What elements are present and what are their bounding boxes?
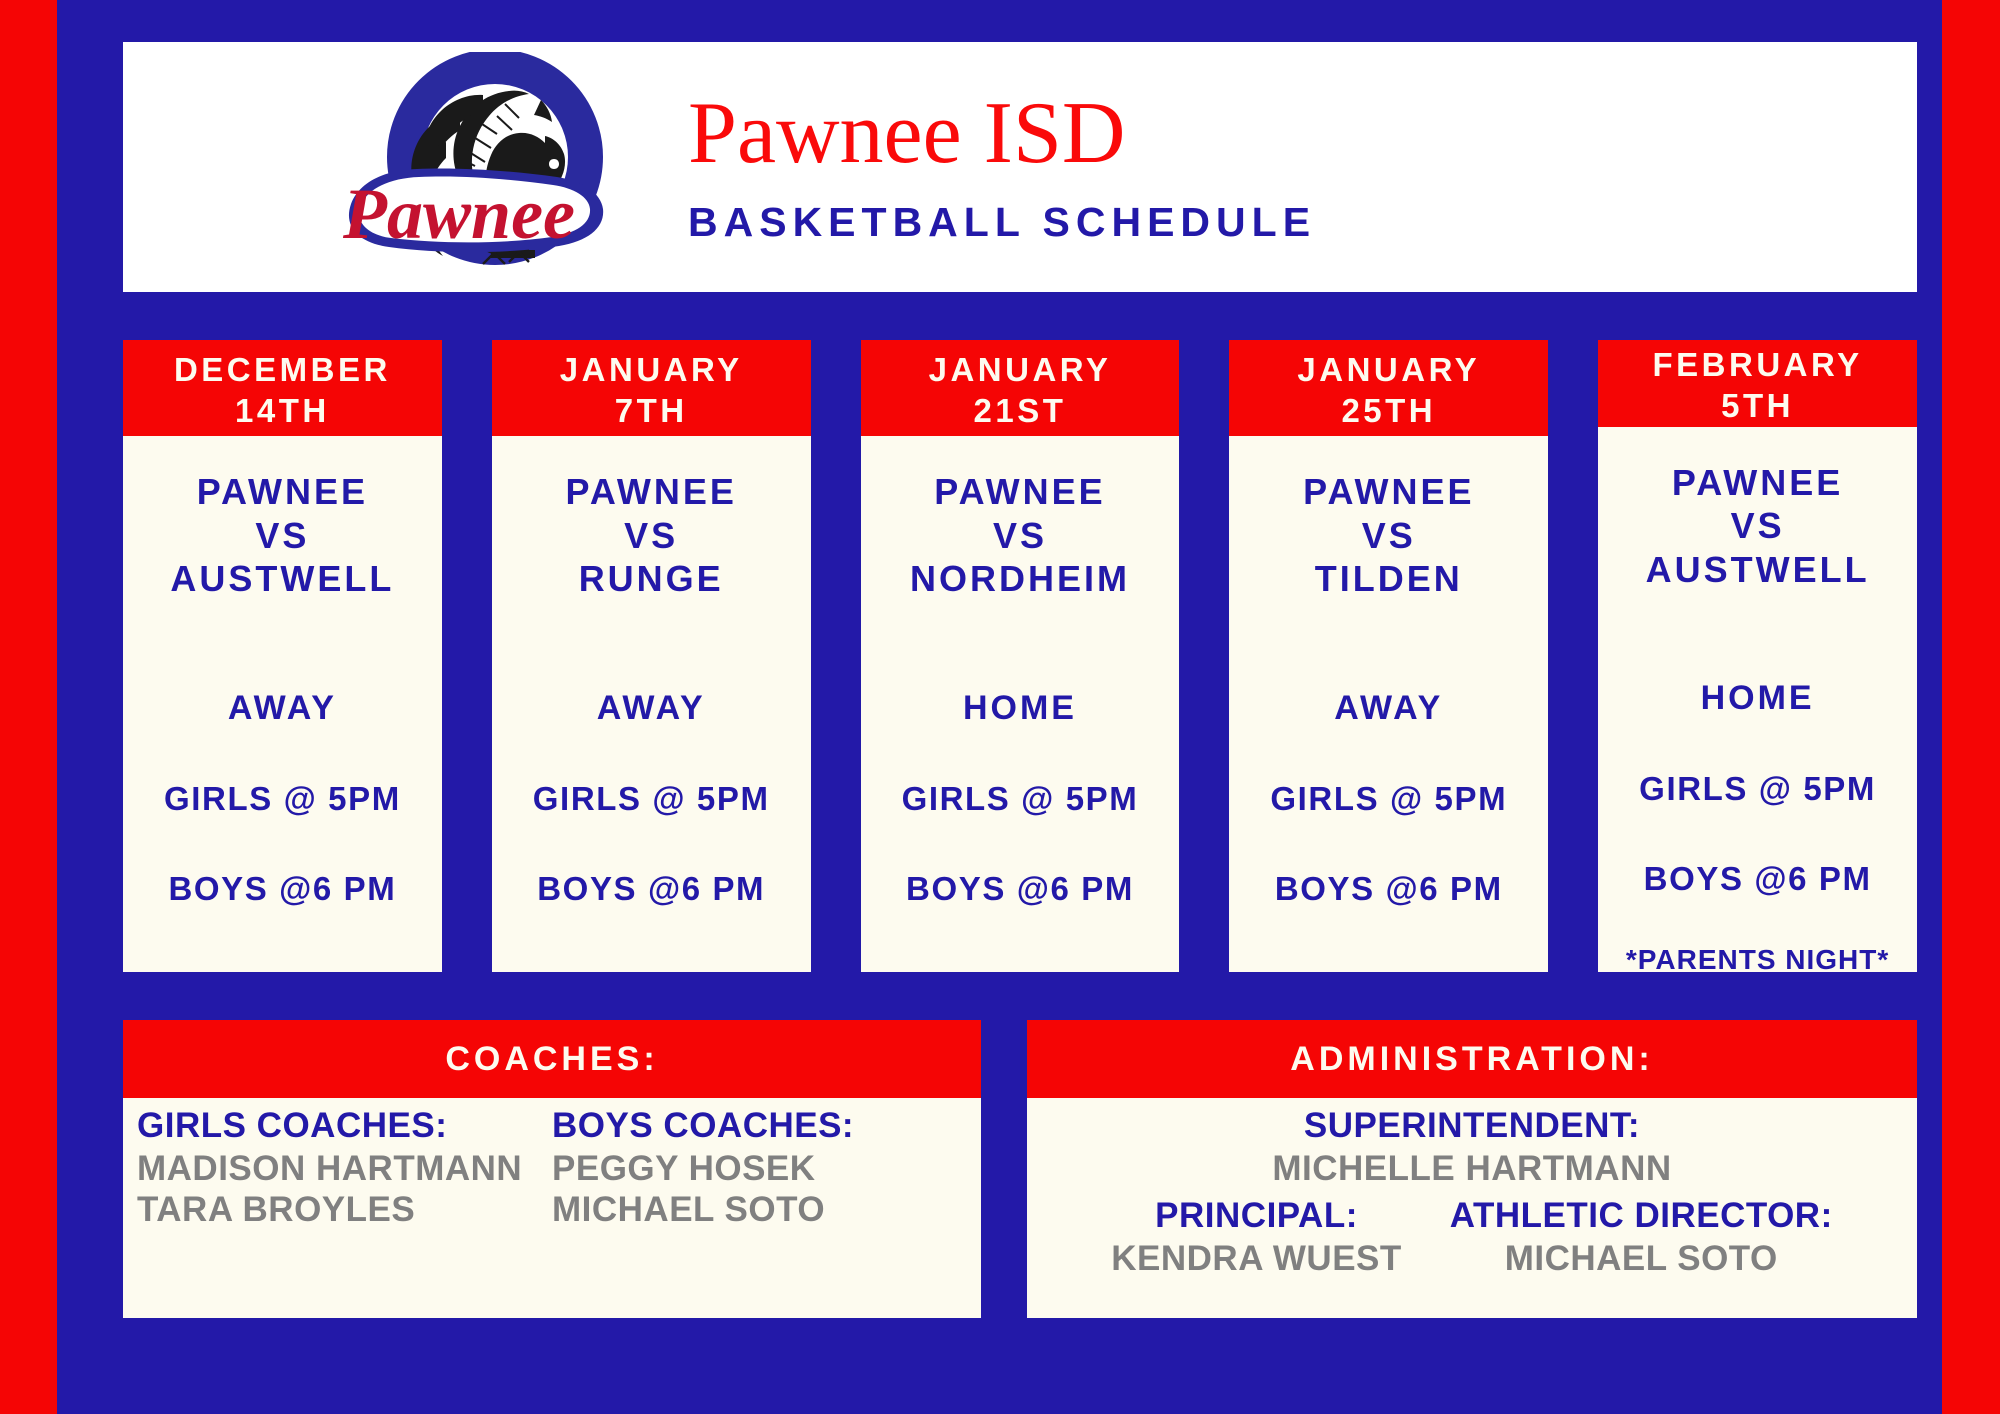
girls-time: GIRLS @ 5PM <box>902 780 1139 818</box>
administration-panel-header: ADMINISTRATION: <box>1027 1020 1917 1098</box>
game-venue: AWAY <box>228 689 337 728</box>
girls-time: GIRLS @ 5PM <box>1639 770 1876 808</box>
boys-coaches-column: BOYS COACHES: PEGGY HOSEK MICHAEL SOTO <box>552 1104 967 1231</box>
game-matchup: PAWNEE VS AUSTWELL <box>170 470 394 601</box>
schedule-poster: Pawnee Pawnee ISD BASKETBALL SCHEDULE DE… <box>0 0 2000 1414</box>
girls-coaches-label: GIRLS COACHES: <box>137 1104 552 1149</box>
header-text-block: Pawnee ISD BASKETBALL SCHEDULE <box>688 88 1316 245</box>
game-details: PAWNEE VS TILDEN AWAY GIRLS @ 5PM BOYS @… <box>1229 436 1548 972</box>
game-details: PAWNEE VS AUSTWELL AWAY GIRLS @ 5PM BOYS… <box>123 436 442 972</box>
game-matchup: PAWNEE VS AUSTWELL <box>1646 461 1870 592</box>
game-matchup: PAWNEE VS RUNGE <box>566 470 737 601</box>
page-subtitle: BASKETBALL SCHEDULE <box>688 199 1316 246</box>
game-card: JANUARY 7TH PAWNEE VS RUNGE AWAY GIRLS @… <box>492 340 811 972</box>
game-card: FEBRUARY 5TH PAWNEE VS AUSTWELL HOME GIR… <box>1598 340 1917 972</box>
boys-coach-name: PEGGY HOSEK <box>552 1149 967 1190</box>
game-cards-row: DECEMBER 14TH PAWNEE VS AUSTWELL AWAY GI… <box>123 340 1917 972</box>
girls-coach-name: MADISON HARTMANN <box>137 1149 552 1190</box>
girls-coaches-column: GIRLS COACHES: MADISON HARTMANN TARA BRO… <box>137 1104 552 1231</box>
coaches-columns: GIRLS COACHES: MADISON HARTMANN TARA BRO… <box>137 1104 967 1231</box>
athletic-director-name: MICHAEL SOTO <box>1450 1239 1833 1280</box>
game-month: FEBRUARY <box>1653 344 1863 385</box>
game-date-header: JANUARY 7TH <box>492 340 811 436</box>
game-date-header: FEBRUARY 5TH <box>1598 340 1917 427</box>
coaches-panel-header: COACHES: <box>123 1020 981 1098</box>
administration-panel-body: SUPERINTENDENT: MICHELLE HARTMANN PRINCI… <box>1027 1098 1917 1318</box>
game-month: JANUARY <box>1297 349 1480 390</box>
boys-time: BOYS @6 PM <box>537 870 765 908</box>
girls-time: GIRLS @ 5PM <box>533 780 770 818</box>
boys-coaches-label: BOYS COACHES: <box>552 1104 967 1149</box>
game-details: PAWNEE VS RUNGE AWAY GIRLS @ 5PM BOYS @6… <box>492 436 811 972</box>
principal-name: KENDRA WUEST <box>1111 1239 1402 1280</box>
game-date-header: DECEMBER 14TH <box>123 340 442 436</box>
coaches-heading: COACHES: <box>445 1040 658 1079</box>
administration-panel: ADMINISTRATION: SUPERINTENDENT: MICHELLE… <box>1027 1020 1917 1318</box>
game-date-header: JANUARY 25TH <box>1229 340 1548 436</box>
page-title: Pawnee ISD <box>688 88 1316 180</box>
header-banner: Pawnee Pawnee ISD BASKETBALL SCHEDULE <box>123 42 1917 292</box>
game-day: 25TH <box>1341 390 1436 431</box>
game-details: PAWNEE VS NORDHEIM HOME GIRLS @ 5PM BOYS… <box>861 436 1180 972</box>
boys-time: BOYS @6 PM <box>1644 860 1872 898</box>
pawnee-chief-logo: Pawnee <box>328 42 628 292</box>
game-venue: HOME <box>963 689 1077 728</box>
athletic-director-column: ATHLETIC DIRECTOR: MICHAEL SOTO <box>1444 1194 1839 1280</box>
game-month: JANUARY <box>560 349 743 390</box>
boys-time: BOYS @6 PM <box>1275 870 1503 908</box>
girls-time: GIRLS @ 5PM <box>164 780 401 818</box>
game-month: DECEMBER <box>174 349 391 390</box>
superintendent-name: MICHELLE HARTMANN <box>1041 1149 1903 1190</box>
game-card: JANUARY 25TH PAWNEE VS TILDEN AWAY GIRLS… <box>1229 340 1548 972</box>
boys-time: BOYS @6 PM <box>906 870 1134 908</box>
game-month: JANUARY <box>929 349 1112 390</box>
logo-wordmark: Pawnee <box>342 174 575 254</box>
game-card: JANUARY 21ST PAWNEE VS NORDHEIM HOME GIR… <box>861 340 1180 972</box>
game-venue: AWAY <box>597 689 706 728</box>
boys-coach-name: MICHAEL SOTO <box>552 1190 967 1231</box>
game-note: *PARENTS NIGHT* <box>1626 944 1889 976</box>
game-matchup: PAWNEE VS TILDEN <box>1303 470 1474 601</box>
boys-time: BOYS @6 PM <box>168 870 396 908</box>
info-panels-row: COACHES: GIRLS COACHES: MADISON HARTMANN… <box>123 1020 1917 1318</box>
game-date-header: JANUARY 21ST <box>861 340 1180 436</box>
athletic-director-label: ATHLETIC DIRECTOR: <box>1450 1194 1833 1239</box>
game-day: 7TH <box>615 390 688 431</box>
game-day: 5TH <box>1721 385 1794 426</box>
game-day: 21ST <box>974 390 1067 431</box>
superintendent-label: SUPERINTENDENT: <box>1041 1104 1903 1149</box>
girls-coach-name: TARA BROYLES <box>137 1190 552 1231</box>
administration-columns: PRINCIPAL: KENDRA WUEST ATHLETIC DIRECTO… <box>1041 1194 1903 1280</box>
game-details: PAWNEE VS AUSTWELL HOME GIRLS @ 5PM BOYS… <box>1598 427 1917 995</box>
coaches-panel-body: GIRLS COACHES: MADISON HARTMANN TARA BRO… <box>123 1098 981 1318</box>
game-venue: AWAY <box>1334 689 1443 728</box>
girls-time: GIRLS @ 5PM <box>1270 780 1507 818</box>
game-card: DECEMBER 14TH PAWNEE VS AUSTWELL AWAY GI… <box>123 340 442 972</box>
principal-label: PRINCIPAL: <box>1111 1194 1402 1239</box>
administration-heading: ADMINISTRATION: <box>1290 1040 1653 1079</box>
game-venue: HOME <box>1701 679 1815 718</box>
game-day: 14TH <box>235 390 330 431</box>
coaches-panel: COACHES: GIRLS COACHES: MADISON HARTMANN… <box>123 1020 981 1318</box>
principal-column: PRINCIPAL: KENDRA WUEST <box>1105 1194 1408 1280</box>
game-matchup: PAWNEE VS NORDHEIM <box>910 470 1130 601</box>
